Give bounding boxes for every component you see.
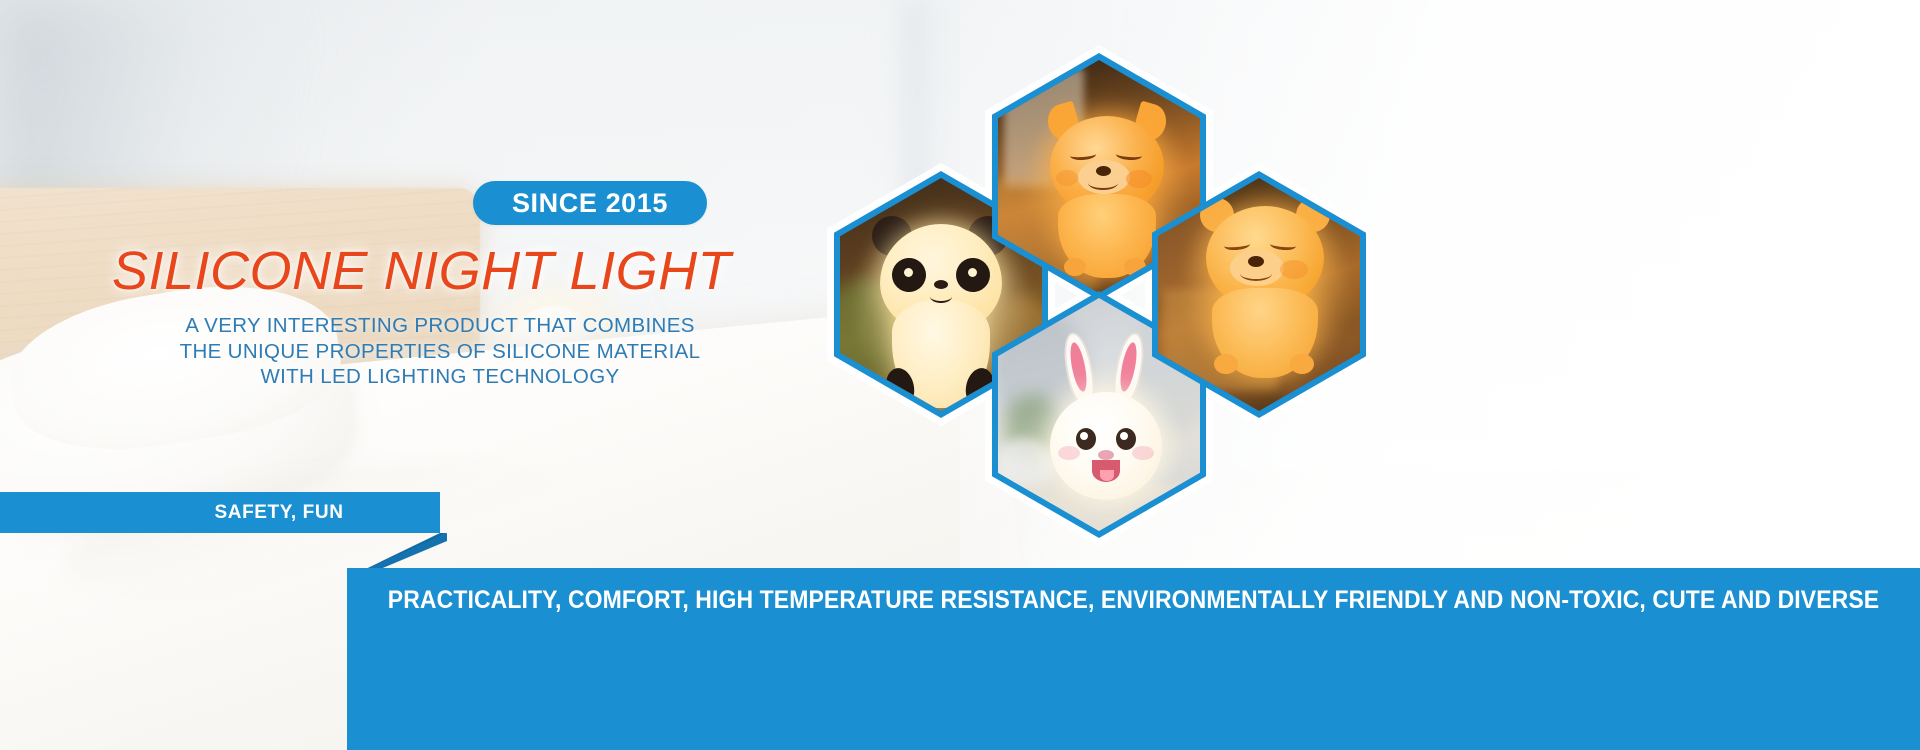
page-title: SILICONE NIGHT LIGHT (112, 237, 732, 305)
subtitle: A VERY INTERESTING PRODUCT THAT COMBINES… (170, 313, 710, 390)
safety-ribbon-label: SAFETY, FUN (96, 502, 343, 524)
subtitle-line-1: A VERY INTERESTING PRODUCT THAT COMBINES (170, 313, 710, 339)
bottom-feature-text: PRACTICALITY, COMFORT, HIGH TEMPERATURE … (410, 578, 1857, 622)
hex-image-bear (1158, 178, 1360, 411)
product-banner: SINCE 2015 SILICONE NIGHT LIGHT A VERY I… (0, 0, 1920, 750)
product-hexagon-gallery (770, 25, 1480, 575)
subtitle-line-3: WITH LED LIGHTING TECHNOLOGY (170, 364, 710, 390)
rabbit-figure (1044, 334, 1170, 502)
safety-ribbon: SAFETY, FUN (0, 492, 440, 533)
bear-figure (1198, 196, 1332, 378)
since-badge: SINCE 2015 (473, 181, 707, 225)
since-badge-label: SINCE 2015 (512, 188, 668, 219)
subtitle-line-2: THE UNIQUE PROPERTIES OF SILICONE MATERI… (170, 339, 710, 365)
